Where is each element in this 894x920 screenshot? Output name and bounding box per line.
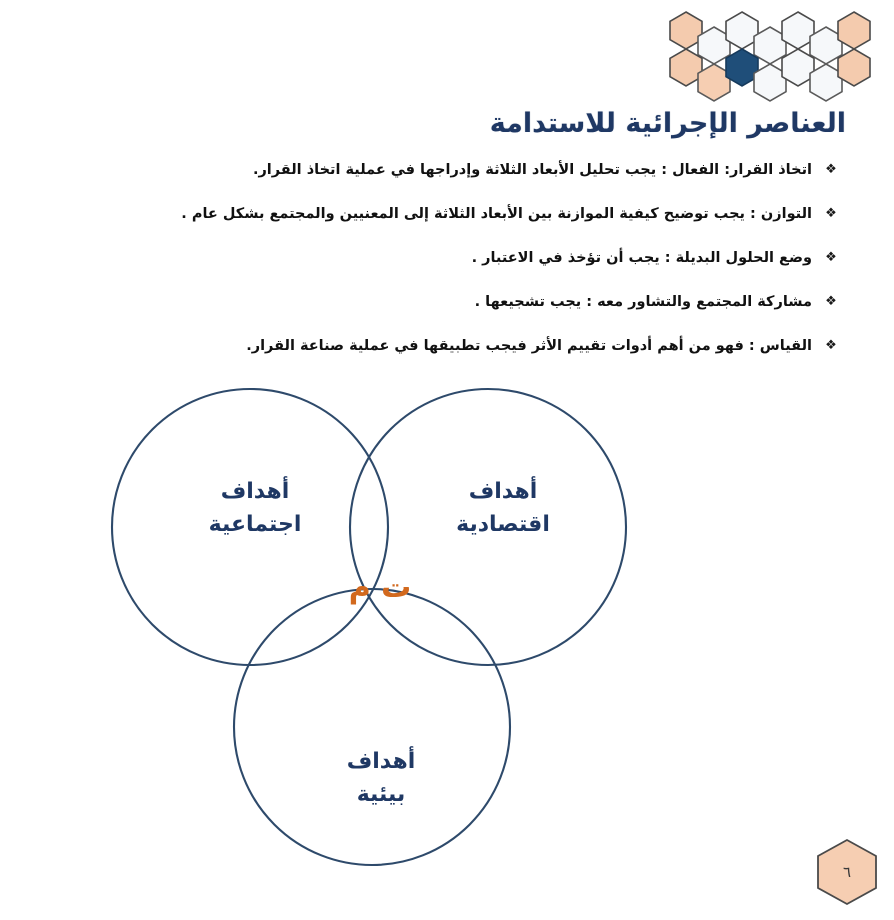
list-item: ❖ مشاركة المجتمع والتشاور معه : يجب تشجي… bbox=[104, 292, 844, 314]
page-number-text: ٦ bbox=[812, 836, 882, 908]
venn-circle-environment bbox=[234, 589, 510, 865]
list-item: ❖ التوازن : يجب توضيح كيفية الموازنة بين… bbox=[104, 204, 844, 226]
list-item-text: اتخاذ القرار: الفعال : يجب تحليل الأبعاد… bbox=[104, 160, 818, 181]
diamond-bullet-icon: ❖ bbox=[818, 160, 844, 180]
list-item: ❖ القياس : فهو من أهم أدوات تقييم الأثر … bbox=[104, 336, 844, 358]
slide-canvas: العناصر الإجرائية للاستدامة ❖ اتخاذ القر… bbox=[0, 0, 894, 920]
list-item-text: مشاركة المجتمع والتشاور معه : يجب تشجيعه… bbox=[104, 292, 818, 313]
diamond-bullet-icon: ❖ bbox=[818, 204, 844, 224]
diamond-bullet-icon: ❖ bbox=[818, 292, 844, 312]
diamond-bullet-icon: ❖ bbox=[818, 248, 844, 268]
venn-circle-social bbox=[112, 389, 388, 665]
venn-diagram: أهداف اجتماعية أهداف اقتصادية أهداف بيئي… bbox=[110, 375, 650, 905]
diamond-bullet-icon: ❖ bbox=[818, 336, 844, 356]
bullet-list: ❖ اتخاذ القرار: الفعال : يجب تحليل الأبع… bbox=[104, 160, 844, 380]
hexagon-decoration bbox=[668, 4, 892, 102]
venn-circle-economic bbox=[350, 389, 626, 665]
list-item: ❖ اتخاذ القرار: الفعال : يجب تحليل الأبع… bbox=[104, 160, 844, 182]
page-number-badge: ٦ bbox=[812, 836, 882, 908]
page-title: العناصر الإجرائية للاستدامة bbox=[346, 108, 846, 139]
list-item-text: القياس : فهو من أهم أدوات تقييم الأثر في… bbox=[104, 336, 818, 357]
list-item: ❖ وضع الحلول البديلة : يجب أن تؤخذ في ال… bbox=[104, 248, 844, 270]
list-item-text: وضع الحلول البديلة : يجب أن تؤخذ في الاع… bbox=[104, 248, 818, 269]
list-item-text: التوازن : يجب توضيح كيفية الموازنة بين ا… bbox=[104, 204, 818, 225]
